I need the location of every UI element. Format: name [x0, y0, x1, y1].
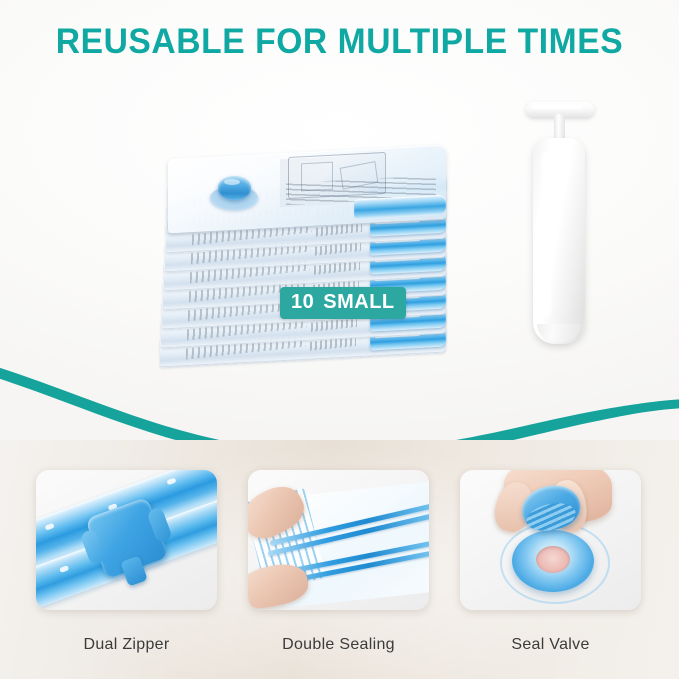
valve-base [512, 530, 594, 592]
vacuum-storage-bag-stack [158, 160, 448, 365]
product-infographic: REUSABLE FOR MULTIPLE TIMES [0, 0, 679, 679]
pump-barrel [533, 138, 585, 344]
feature-cards [0, 470, 679, 630]
badge-size: SMALL [323, 291, 394, 313]
feature-caption-seal-valve: Seal Valve [460, 636, 641, 654]
bag-air-valve-icon [210, 176, 258, 210]
bag-zipper-edge [354, 195, 446, 220]
feature-card-double-sealing[interactable] [248, 470, 429, 610]
badge-count: 10 [291, 291, 314, 313]
manual-hand-pump [516, 96, 602, 344]
feature-card-seal-valve[interactable] [460, 470, 641, 610]
feature-caption-double-sealing: Double Sealing [248, 636, 429, 654]
page-title: REUSABLE FOR MULTIPLE TIMES [14, 22, 666, 62]
quantity-size-badge: 10SMALL [280, 287, 406, 319]
feature-caption-dual-zipper: Dual Zipper [36, 636, 217, 654]
feature-card-dual-zipper[interactable] [36, 470, 217, 610]
valve-cap [218, 176, 251, 200]
